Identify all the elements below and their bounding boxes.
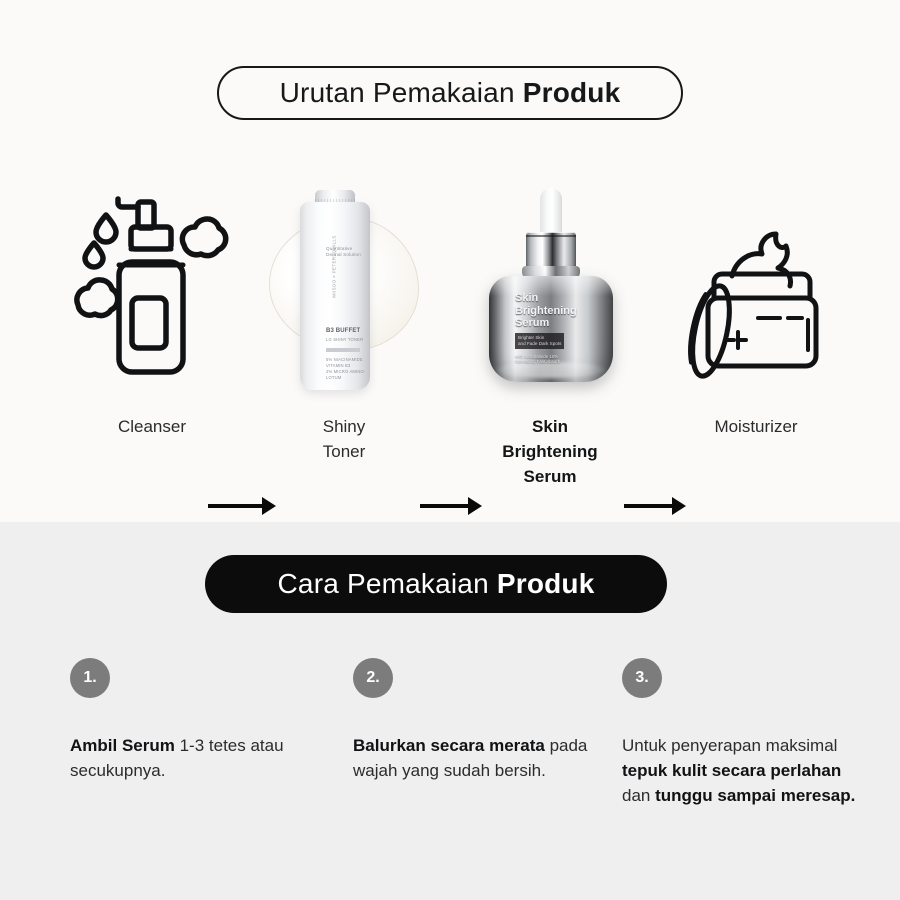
toner-label-bar [326, 348, 360, 352]
arrow-cleanser-to-toner [208, 495, 276, 517]
arrow-shaft [208, 504, 263, 508]
moisturizer-jar-icon [680, 180, 830, 395]
toner-ingredients: 5% NIACINAMIDE VITAMIN B3 2% MICRO AMINO… [326, 357, 370, 381]
product-label-line: Shiny [264, 414, 424, 439]
toner-brand-vertical: MIISOO × PETERSQUILLS [332, 217, 337, 317]
usage-title-normal: Cara Pemakaian [278, 568, 497, 599]
serum-banner: Brighter Skin and Fade Dark Spots [515, 333, 564, 349]
step-number-badge: 3. [622, 658, 662, 698]
step-text-bold: tepuk kulit secara perlahan [622, 761, 841, 780]
serum-title: Skin Brightening Serum [515, 292, 591, 330]
step-text-bold: tunggu sampai meresap. [655, 786, 855, 805]
toner-bottle-photo: MIISOO × PETERSQUILLS Quantitative Derma… [262, 180, 427, 395]
step-item: 2. Balurkan secara merata pada wajah yan… [353, 658, 603, 783]
product-row: MIISOO × PETERSQUILLS Quantitative Derma… [0, 180, 900, 410]
arrow-shaft [420, 504, 469, 508]
arrow-head [468, 497, 482, 515]
step-text: Ambil Serum 1-3 tetes atau secukupnya. [70, 733, 320, 783]
step-text: Untuk penyerapan maksimal tepuk kulit se… [622, 733, 872, 808]
usage-instructions-section: Cara Pemakaian Produk 1. Ambil Serum 1-3… [0, 522, 900, 900]
cleanser-pump-bottle-icon [70, 180, 235, 395]
product-label-line: Toner [264, 439, 424, 464]
arrow-head [262, 497, 276, 515]
section-title-outline-pill: Urutan Pemakaian Produk [217, 66, 683, 120]
product-label-line: Skin [470, 414, 630, 439]
product-label-line: Serum [470, 464, 630, 489]
usage-title-bold: Produk [497, 568, 595, 599]
product-label-line: Brightening [470, 439, 630, 464]
product-label-line: Cleanser [72, 414, 232, 439]
serum-chrome-collar [526, 232, 576, 270]
step-text-bold: Balurkan secara merata [353, 736, 550, 755]
arrow-head [672, 497, 686, 515]
product-label-line: Moisturizer [676, 414, 836, 439]
product-item-shiny-toner: MIISOO × PETERSQUILLS Quantitative Derma… [262, 180, 427, 395]
product-item-moisturizer [680, 180, 830, 395]
step-item: 3. Untuk penyerapan maksimal tepuk kulit… [622, 658, 872, 808]
toner-body: MIISOO × PETERSQUILLS Quantitative Derma… [300, 202, 370, 390]
step-item: 1. Ambil Serum 1-3 tetes atau secukupnya… [70, 658, 320, 783]
step-text-normal: Untuk penyerapan maksimal [622, 736, 837, 755]
arrow-toner-to-serum [420, 495, 482, 517]
product-label-cleanser: Cleanser [72, 414, 232, 439]
page-title: Urutan Pemakaian Produk [280, 77, 621, 109]
step-text-bold: Ambil Serum [70, 736, 180, 755]
toner-product-name: B3 BUFFET [326, 328, 360, 334]
page-title-normal: Urutan Pemakaian [280, 77, 523, 108]
product-item-skin-brightening-serum: Skin Brightening Serum Brighter Skin and… [470, 180, 630, 395]
arrow-serum-to-moisturizer [624, 495, 686, 517]
product-label-skin-brightening-serum: Skin Brightening Serum [470, 414, 630, 489]
usage-title: Cara Pemakaian Produk [278, 568, 595, 600]
toner-tagline: Quantitative Dermal Solution [326, 246, 361, 258]
step-text-normal: dan [622, 786, 655, 805]
serum-dropper-bottle-photo: Skin Brightening Serum Brighter Skin and… [470, 180, 630, 395]
product-order-section: Urutan Pemakaian Produk [0, 0, 900, 522]
step-number-badge: 2. [353, 658, 393, 698]
toner-product-sub: LG SHINY TONER [326, 337, 363, 343]
product-label-moisturizer: Moisturizer [676, 414, 836, 439]
step-text: Balurkan secara merata pada wajah yang s… [353, 733, 603, 783]
section-title-solid-pill: Cara Pemakaian Produk [205, 555, 667, 613]
arrow-shaft [624, 504, 673, 508]
step-number-badge: 1. [70, 658, 110, 698]
product-label-shiny-toner: Shiny Toner [264, 414, 424, 464]
product-item-cleanser [70, 180, 235, 395]
page-title-bold: Produk [523, 77, 621, 108]
serum-label: Skin Brightening Serum Brighter Skin and… [515, 292, 591, 365]
infographic-page: Urutan Pemakaian Produk [0, 0, 900, 900]
serum-fine-print: with Niacinamide 10% Non-sticky Fast Abs… [515, 354, 591, 365]
